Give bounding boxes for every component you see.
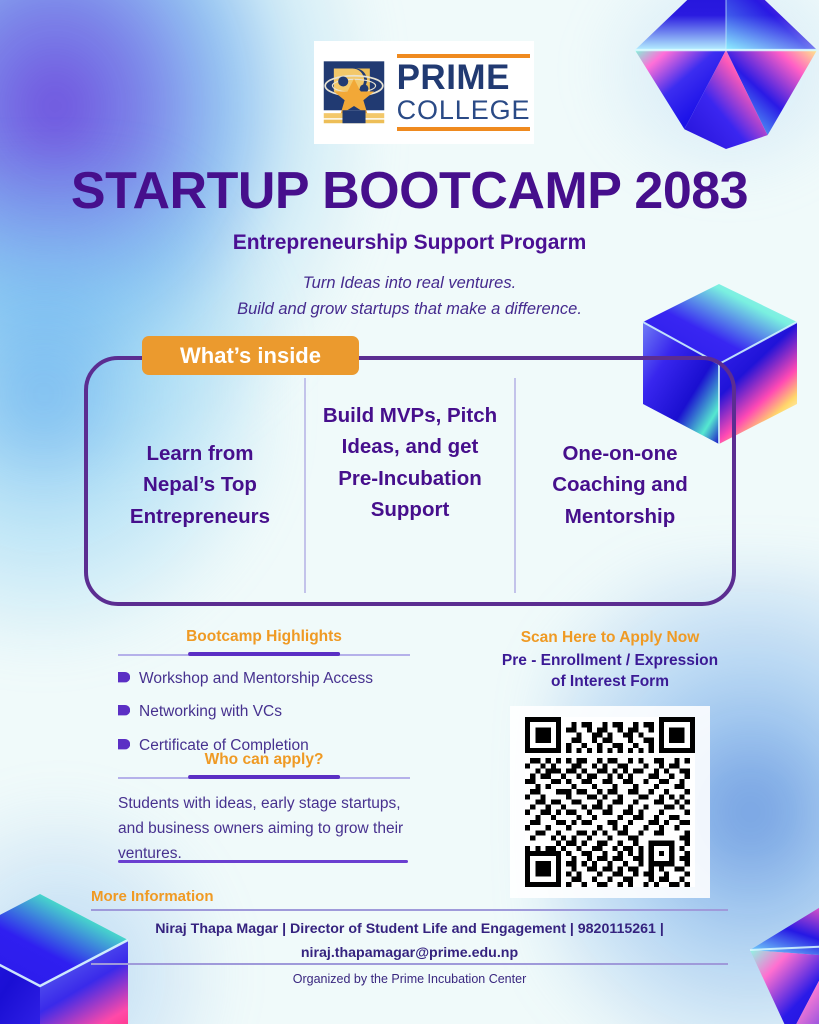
footer-divider-bottom — [91, 963, 728, 965]
whats-inside-badge: What’s inside — [142, 336, 359, 375]
contact-details: Niraj Thapa Magar | Director of Student … — [91, 917, 728, 966]
highlight-item-label: Networking with VCs — [139, 701, 282, 723]
pre-enrollment-heading: Pre - Enrollment / Expression of Interes… — [462, 651, 758, 693]
prime-college-logo: PRIME COLLEGE — [314, 41, 534, 144]
inside-column-1: Learn from Nepal’s Top Entrepreneurs — [96, 378, 304, 593]
who-can-apply-section: Who can apply? Students with ideas, earl… — [118, 751, 410, 866]
bootcamp-highlights-heading: Bootcamp Highlights — [118, 628, 410, 646]
list-item: Workshop and Mentorship Access — [118, 668, 410, 690]
poster-tagline: Turn Ideas into real ventures. Build and… — [0, 270, 819, 322]
logo-wordmark: PRIME COLLEGE — [397, 54, 531, 130]
prime-college-logo-mark-icon — [318, 57, 390, 129]
pre-enrollment-line-1: Pre - Enrollment / Expression — [462, 651, 758, 672]
more-information-label: More Information — [91, 888, 214, 905]
organized-by-text: Organized by the Prime Incubation Center — [91, 972, 728, 986]
poster-canvas: PRIME COLLEGE STARTUP BOOTCAMP 2083 Entr… — [0, 0, 819, 1024]
tagline-line-1: Turn Ideas into real ventures. — [0, 270, 819, 296]
footer-divider-top — [91, 909, 728, 911]
scan-here-heading: Scan Here to Apply Now — [462, 628, 758, 649]
bootcamp-highlights-section: Bootcamp Highlights Workshop and Mentors… — [118, 628, 410, 768]
scan-to-apply-section: Scan Here to Apply Now Pre - Enrollment … — [462, 628, 758, 898]
logo-college-text: COLLEGE — [397, 96, 531, 124]
whats-inside-columns: Learn from Nepal’s Top Entrepreneurs Bui… — [96, 378, 724, 593]
flag-bullet-icon — [118, 705, 130, 716]
who-can-apply-rule — [118, 775, 410, 780]
bootcamp-highlights-rule — [118, 652, 410, 657]
tagline-line-2: Build and grow startups that make a diff… — [0, 296, 819, 322]
flag-bullet-icon — [118, 672, 130, 683]
poster-subtitle: Entrepreneurship Support Progarm — [0, 231, 819, 255]
iridescent-octahedron-gem-bottom-right-icon — [742, 900, 819, 1024]
pre-enrollment-line-2: of Interest Form — [462, 672, 758, 693]
inside-column-3: One-on-one Coaching and Mentorship — [516, 378, 724, 593]
iridescent-octahedron-gem-top-right-icon — [627, 0, 819, 154]
contact-line-1: Niraj Thapa Magar | Director of Student … — [91, 917, 728, 941]
highlight-item-label: Workshop and Mentorship Access — [139, 668, 373, 690]
bootcamp-highlights-list: Workshop and Mentorship Access Networkin… — [118, 668, 410, 757]
logo-rule-bottom — [397, 127, 531, 131]
logo-prime-text: PRIME — [397, 60, 531, 96]
inside-column-2: Build MVPs, Pitch Ideas, and get Pre-Inc… — [304, 378, 516, 593]
who-can-apply-heading: Who can apply? — [118, 751, 410, 769]
list-item: Networking with VCs — [118, 701, 410, 723]
apply-now-qr-code-icon[interactable] — [521, 717, 699, 887]
qr-code-panel[interactable] — [510, 706, 710, 898]
poster-title: STARTUP BOOTCAMP 2083 — [0, 164, 819, 219]
flag-bullet-icon — [118, 739, 130, 750]
who-can-apply-bottom-rule — [118, 860, 408, 863]
who-can-apply-body: Students with ideas, early stage startup… — [118, 791, 410, 866]
